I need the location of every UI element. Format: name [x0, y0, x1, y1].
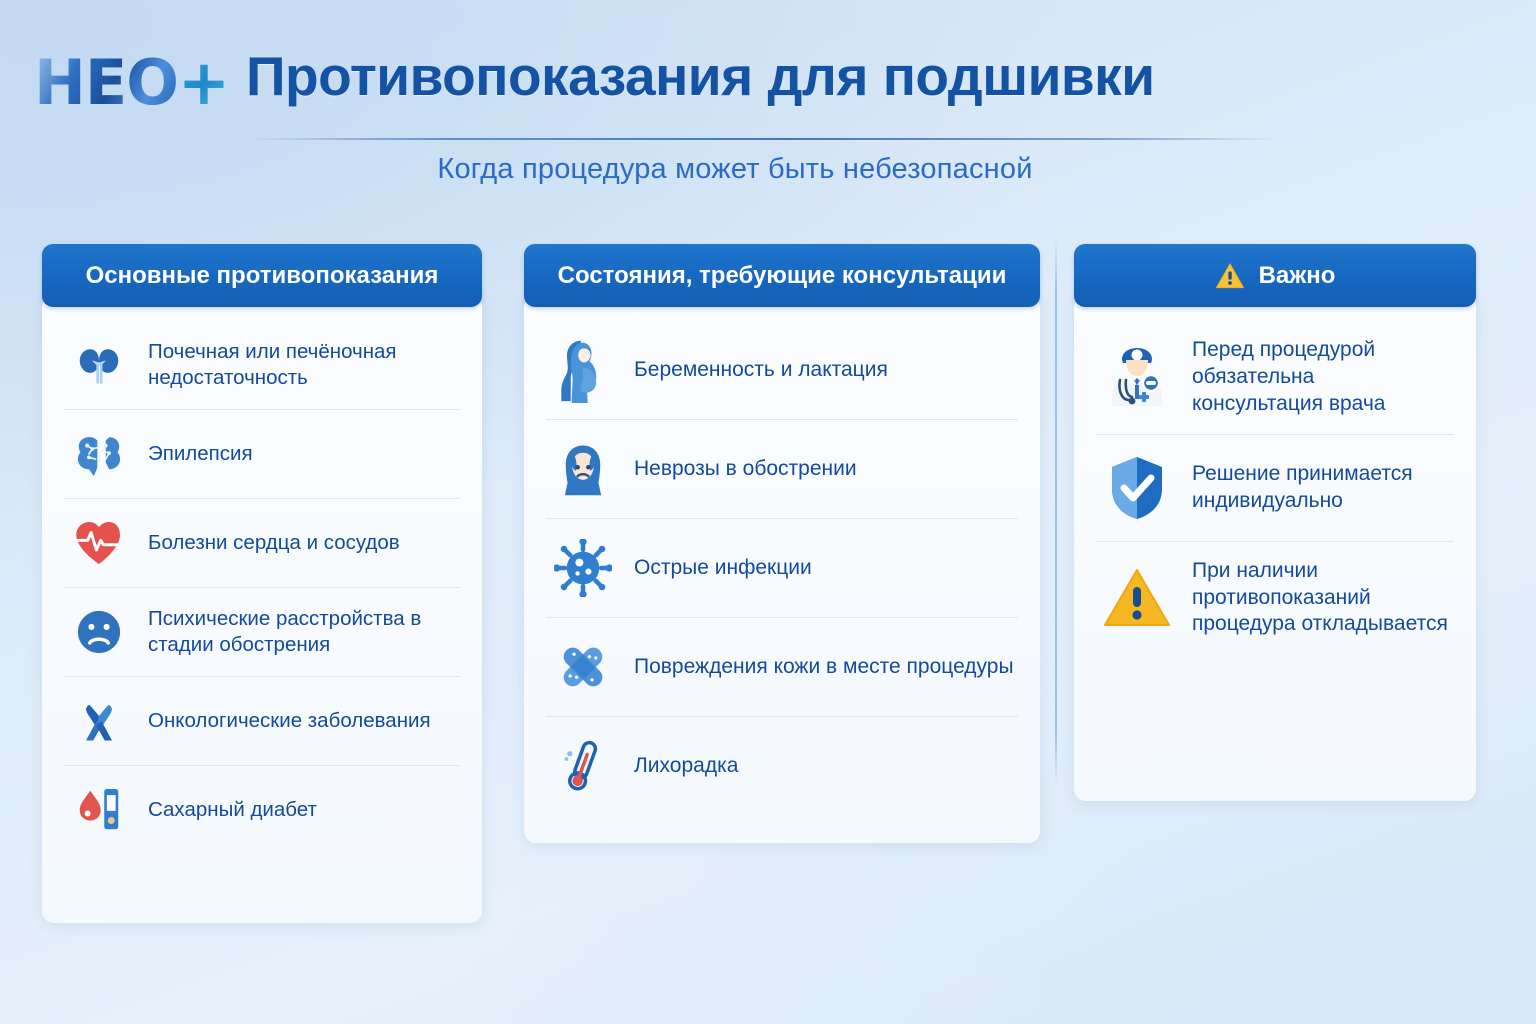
list-item-label: Болезни сердца и сосудов [148, 530, 400, 556]
blood-glucose-icon [68, 779, 130, 841]
list-item[interactable]: Беременность и лактация [546, 321, 1018, 419]
distressed-woman-icon [550, 436, 616, 502]
card-header-label: Основные противопоказания [86, 262, 439, 290]
warning-triangle-icon [1100, 561, 1174, 635]
list-item[interactable]: Болезни сердца и сосудов [64, 498, 460, 587]
thermometer-icon [550, 733, 616, 799]
card-main-contraindications: Основные противопоказания Почечная или п… [42, 244, 482, 923]
pregnant-woman-icon [550, 337, 616, 403]
list-item[interactable]: Сахарный диабет [64, 765, 460, 854]
warning-triangle-icon [1215, 262, 1245, 290]
card-body-requires-consultation: Беременность и лактация Неврозы в обостр… [524, 295, 1040, 843]
list-item[interactable]: Психические расстройства в стадии обостр… [64, 587, 460, 676]
card-requires-consultation: Состояния, требующие консультации Береме… [524, 244, 1040, 843]
list-item-label: Сахарный диабет [148, 797, 317, 823]
infographic-canvas: HEO+ Противопоказания для подшивки Когда… [0, 0, 1536, 1024]
list-item-label: Решение принимается индивидуально [1192, 461, 1450, 515]
heart-pulse-icon [68, 512, 130, 574]
logo-text: HEO [34, 46, 178, 119]
page-header: HEO+ Противопоказания для подшивки Когда… [0, 0, 1536, 210]
list-item-label: Эпилепсия [148, 441, 253, 467]
card-header-main-contraindications: Основные противопоказания [42, 244, 482, 307]
list-item[interactable]: Почечная или печёночная недостаточность [64, 321, 460, 409]
title-divider [250, 138, 1280, 140]
logo-plus-icon: + [178, 46, 229, 119]
shield-check-icon [1100, 451, 1174, 525]
list-item-label: Перед процедурой обязательна консультаци… [1192, 337, 1450, 418]
list-item[interactable]: Лихорадка [546, 716, 1018, 815]
list-item-label: Почечная или печёночная недостаточность [148, 339, 456, 391]
card-header-label: Важно [1259, 262, 1336, 290]
virus-icon [550, 535, 616, 601]
card-header-requires-consultation: Состояния, требующие консультации [524, 244, 1040, 307]
bandage-icon [550, 634, 616, 700]
list-item-label: Онкологические заболевания [148, 708, 431, 734]
list-item-label: Психические расстройства в стадии обостр… [148, 606, 456, 658]
list-item[interactable]: Перед процедурой обязательна консультаци… [1096, 321, 1454, 434]
card-body-important: Перед процедурой обязательна консультаци… [1074, 295, 1476, 801]
list-item[interactable]: Решение принимается индивидуально [1096, 434, 1454, 541]
list-item-label: При наличии противопоказаний процедура о… [1192, 558, 1450, 639]
page-title: Противопоказания для подшивки [246, 48, 1155, 106]
kidneys-icon [68, 334, 130, 396]
card-header-label: Состояния, требующие консультации [558, 262, 1007, 290]
card-important: Важно [1074, 244, 1476, 801]
brand-logo: HEO+ [34, 52, 229, 114]
sad-face-icon [68, 601, 130, 663]
card-body-main-contraindications: Почечная или печёночная недостаточность [42, 295, 482, 923]
list-item-label: Лихорадка [634, 753, 738, 780]
list-item[interactable]: Острые инфекции [546, 518, 1018, 617]
list-item-label: Беременность и лактация [634, 357, 888, 384]
list-item[interactable]: Повреждения кожи в месте процедуры [546, 617, 1018, 716]
brain-icon [68, 423, 130, 485]
page-subtitle: Когда процедура может быть небезопасной [0, 153, 1470, 186]
doctor-icon [1100, 340, 1174, 414]
list-item-label: Неврозы в обострении [634, 456, 857, 483]
card-header-important: Важно [1074, 244, 1476, 307]
list-item[interactable]: Неврозы в обострении [546, 419, 1018, 518]
column-divider [1055, 238, 1057, 786]
list-item[interactable]: Эпилепсия [64, 409, 460, 498]
list-item[interactable]: Онкологические заболевания [64, 676, 460, 765]
list-item[interactable]: При наличии противопоказаний процедура о… [1096, 541, 1454, 655]
list-item-label: Повреждения кожи в месте процедуры [634, 654, 1014, 681]
list-item-label: Острые инфекции [634, 555, 812, 582]
awareness-ribbon-icon [68, 690, 130, 752]
